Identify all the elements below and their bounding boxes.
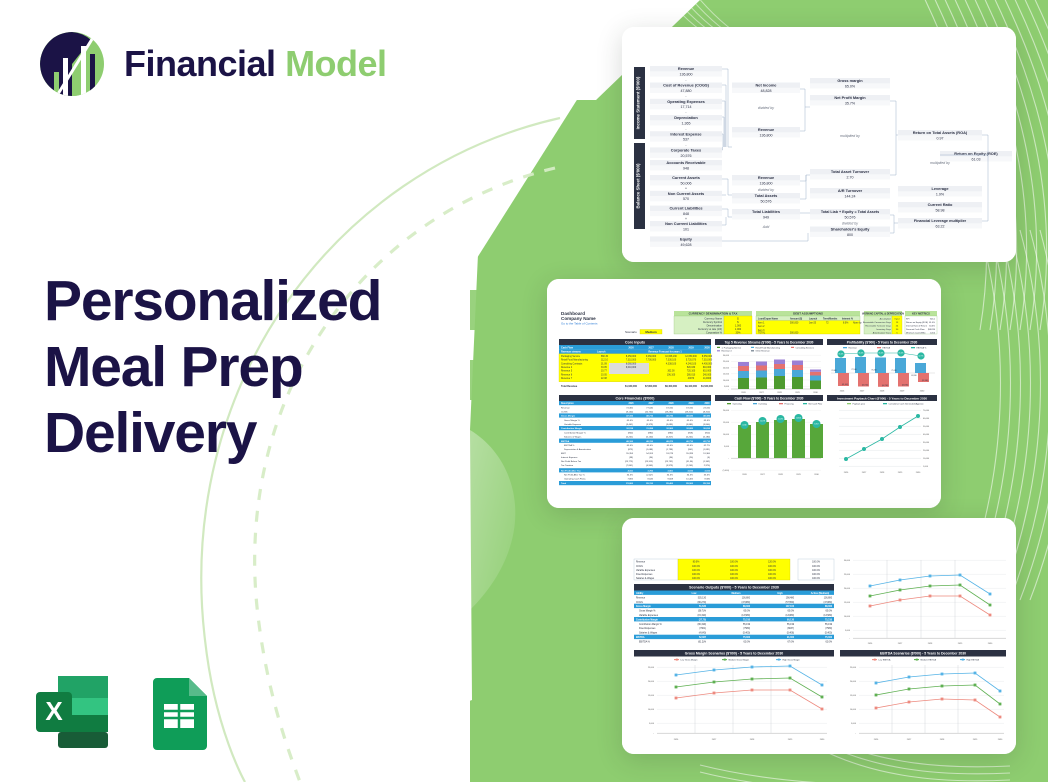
svg-text:55,199: 55,199	[787, 624, 795, 626]
svg-text:(31,36): (31,36)	[686, 461, 693, 463]
svg-text:30,810: 30,810	[703, 428, 710, 430]
svg-text:DEBT ASSUMPTIONS: DEBT ASSUMPTIONS	[793, 312, 823, 316]
svg-text:Operating Cash Flows: Operating Cash Flows	[564, 478, 587, 481]
svg-text:$1,520,000: $1,520,000	[701, 385, 714, 388]
svg-text:5,720,070: 5,720,070	[686, 360, 697, 362]
svg-text:Financing: Financing	[785, 404, 795, 406]
svg-text:10,000: 10,000	[844, 616, 851, 618]
svg-text:Low EBITDA: Low EBITDA	[879, 658, 892, 661]
svg-text:62.0%: 62.0%	[825, 642, 832, 644]
svg-text:Operating Expenses: Operating Expenses	[667, 99, 705, 104]
svg-text:75,310: 75,310	[743, 619, 751, 621]
svg-text:(918): (918)	[688, 432, 693, 434]
svg-text:136,800: 136,800	[824, 598, 833, 600]
svg-text:Jan-25: Jan-25	[809, 323, 817, 325]
svg-text:101: 101	[683, 227, 689, 231]
svg-text:62.7%: 62.7%	[704, 445, 710, 447]
svg-text:144.24: 144.24	[845, 194, 856, 198]
page-title-line-3: Delivery	[44, 400, 464, 466]
svg-text:54,203: 54,203	[646, 453, 653, 455]
svg-text:Cash Flow: Cash Flow	[561, 346, 573, 349]
svg-text:(1,205): (1,205)	[686, 465, 693, 467]
svg-text:Revenue: Revenue	[758, 175, 775, 180]
dashboard-screenshot[interactable]: Dashboard Company Name Go to the Table o…	[547, 279, 941, 508]
svg-text:3,060,000: 3,060,000	[646, 356, 657, 358]
svg-text:Balance Sheet ($'000): Balance Sheet ($'000)	[636, 163, 641, 209]
svg-text:High: High	[777, 592, 783, 595]
svg-text:High EBITDA: High EBITDA	[967, 658, 980, 661]
svg-text:Depreciation: Depreciation	[674, 115, 698, 120]
green-sliver-left-lower	[470, 360, 487, 400]
svg-text:COGS: COGS	[636, 566, 643, 568]
svg-text:0.97: 0.97	[937, 136, 944, 140]
svg-text:Net Profit Before Tax: Net Profit Before Tax	[561, 460, 582, 463]
svg-text:91,300: 91,300	[787, 637, 795, 639]
svg-text:3,910: 3,910	[705, 470, 711, 472]
svg-text:10,405: 10,405	[686, 479, 693, 481]
svg-text:Interest Expense: Interest Expense	[561, 456, 578, 459]
svg-text:(4,640): (4,640)	[699, 633, 707, 635]
svg-text:$7,800,000: $7,800,000	[645, 385, 658, 388]
slide-canvas: Financial Model Personalized Meal Prep D…	[0, 0, 1048, 782]
svg-text:75,310: 75,310	[891, 370, 896, 372]
svg-text:61.03: 61.03	[972, 157, 981, 161]
svg-text:Total Revenue: Total Revenue	[561, 385, 578, 388]
svg-text:32,820: 32,820	[686, 428, 693, 430]
svg-text:(5,180): (5,180)	[703, 436, 710, 438]
svg-text:Variable Expenses: Variable Expenses	[639, 614, 659, 617]
svg-text:Variable Expense: Variable Expense	[564, 423, 582, 426]
svg-text:Total Liab + Equity = Total As: Total Liab + Equity = Total Assets	[821, 210, 879, 214]
svg-text:10,608,190: 10,608,190	[665, 356, 677, 358]
svg-text:Net Profit Margin: Net Profit Margin	[834, 95, 866, 100]
svg-text:Value: Value	[930, 318, 936, 320]
svg-text:Net Profit After Tax: Net Profit After Tax	[561, 469, 581, 472]
svg-text:1.9%: 1.9%	[936, 192, 945, 196]
svg-text:8.0%: 8.0%	[843, 323, 848, 325]
svg-text:302.00: 302.00	[667, 371, 675, 373]
svg-text:(5,150): (5,150)	[646, 436, 653, 438]
svg-text:Medium EBITDA: Medium EBITDA	[921, 658, 937, 661]
svg-text:8,707: 8,707	[814, 424, 818, 426]
svg-text:(47,880): (47,880)	[823, 602, 832, 604]
svg-text:Corporate Taxes: Corporate Taxes	[671, 148, 701, 153]
svg-text:Net Cash Flow: Net Cash Flow	[809, 403, 823, 406]
svg-text:Item 1: Item 1	[758, 322, 765, 325]
svg-text:17,714: 17,714	[681, 105, 692, 109]
svg-text:47,100: 47,100	[626, 415, 633, 418]
svg-text:34.5%: 34.5%	[687, 475, 693, 477]
svg-text:30,000: 30,000	[923, 442, 930, 444]
svg-text:multiplied by: multiplied by	[930, 161, 950, 165]
svg-text:30,000: 30,000	[844, 560, 851, 562]
svg-text:Discount Cash Flow: Discount Cash Flow	[906, 328, 925, 331]
svg-text:10,000: 10,000	[850, 709, 857, 711]
svg-text:62.7%: 62.7%	[919, 356, 924, 358]
svg-text:136,800: 136,800	[760, 181, 773, 185]
svg-text:Interest Expense: Interest Expense	[670, 131, 702, 136]
svg-text:(13,580): (13,580)	[741, 615, 750, 617]
svg-text:TOTAL: TOTAL	[758, 332, 766, 335]
svg-text:(3,979): (3,979)	[666, 465, 673, 467]
svg-text:Amortisation Years: Amortisation Years	[873, 331, 892, 334]
svg-text:20,000: 20,000	[723, 410, 730, 412]
svg-text:Gross margin: Gross margin	[837, 78, 863, 83]
svg-text:divided by: divided by	[758, 188, 774, 192]
svg-text:(5,201): (5,201)	[686, 436, 693, 438]
svg-text:35.7%: 35.7%	[845, 101, 856, 105]
svg-text:Medium Gross Margin: Medium Gross Margin	[729, 658, 750, 661]
svg-text:Ability: Ability	[636, 592, 644, 595]
svg-text:15,000: 15,000	[723, 374, 730, 376]
svg-text:70,000: 70,000	[923, 410, 930, 412]
svg-text:80.0%: 80.0%	[693, 562, 700, 564]
svg-text:COGS: COGS	[561, 411, 568, 413]
svg-text:7,310,000: 7,310,000	[626, 360, 637, 362]
svg-text:860.30: 860.30	[601, 356, 609, 358]
svg-text:20,576: 20,576	[681, 154, 692, 158]
svg-text:100.0%: 100.0%	[730, 570, 738, 572]
svg-text:$8,190: $8,190	[703, 483, 710, 485]
svg-text:Accounts Receivable: Accounts Receivable	[666, 160, 706, 165]
svg-text:7,310,000: 7,310,000	[702, 360, 713, 362]
brand-name-part1: Financial	[124, 43, 276, 84]
svg-text:Gross Margin: Gross Margin	[561, 416, 576, 418]
svg-text:40,000: 40,000	[923, 434, 930, 436]
svg-text:65.0%: 65.0%	[687, 445, 693, 447]
svg-text:2027: 2027	[648, 346, 654, 349]
svg-text:1. Packaging Service: 1. Packaging Service	[722, 346, 742, 349]
svg-text:55,199: 55,199	[743, 624, 751, 626]
svg-text:20,000: 20,000	[923, 450, 930, 452]
svg-text:(20): (20)	[689, 457, 693, 459]
svg-text:(1,302): (1,302)	[703, 461, 710, 463]
svg-text:12,650,000: 12,650,000	[685, 356, 697, 358]
svg-text:(15,190): (15,190)	[697, 615, 706, 617]
svg-text:Input: Input	[895, 317, 900, 320]
svg-text:10,000: 10,000	[723, 434, 730, 436]
svg-text:Revenue: Revenue	[678, 66, 695, 71]
svg-text:Operating: Operating	[733, 403, 743, 406]
svg-text:(43,710): (43,710)	[862, 385, 869, 387]
svg-text:(23,313): (23,313)	[645, 461, 653, 463]
dashboard-subtitle: Company Name	[561, 316, 596, 321]
svg-text:30%: 30%	[735, 331, 741, 334]
brand-name-part2: Model	[285, 43, 387, 84]
svg-text:Revenue 4: Revenue 4	[722, 351, 733, 353]
svg-text:Current Assets: Current Assets	[672, 175, 700, 180]
svg-text:Retail Food Manufacturing: Retail Food Manufacturing	[561, 359, 589, 362]
svg-text:65.0%: 65.0%	[704, 420, 710, 422]
svg-text:948: 948	[683, 166, 689, 170]
svg-text:Item 2: Item 2	[758, 325, 765, 328]
svg-text:100.0%: 100.0%	[768, 578, 776, 580]
green-sliver-left-upper	[470, 290, 490, 330]
svg-text:Revenue: Revenue	[561, 407, 571, 409]
svg-text:Consulting Contracts: Consulting Contracts	[561, 362, 583, 365]
svg-text:100.0%: 100.0%	[692, 574, 700, 576]
svg-text:20,000: 20,000	[850, 681, 857, 683]
svg-text:Other Revenue: Other Revenue	[756, 350, 771, 353]
svg-text:20,000: 20,000	[723, 367, 730, 369]
svg-text:15,000: 15,000	[723, 422, 730, 424]
svg-text:Total: Total	[561, 482, 566, 485]
svg-text:A/R Turnover: A/R Turnover	[838, 188, 863, 193]
svg-text:88,300: 88,300	[743, 606, 751, 608]
svg-text:(8,310): (8,310)	[703, 411, 710, 413]
svg-text:Variable Expenses: Variable Expenses	[636, 569, 656, 572]
svg-text:Equity: Equity	[680, 237, 693, 242]
svg-text:1,000: 1,000	[923, 466, 929, 468]
svg-text:(6): (6)	[707, 457, 710, 459]
svg-text:2.70: 2.70	[847, 175, 854, 179]
svg-text:Leverage: Leverage	[931, 186, 949, 191]
svg-text:65.0%: 65.0%	[787, 611, 794, 613]
svg-text:Corporation %: Corporation %	[706, 331, 723, 334]
svg-text:Medium: Medium	[645, 330, 657, 334]
svg-text:2030: 2030	[704, 346, 710, 349]
svg-text:5,000: 5,000	[724, 446, 730, 448]
svg-text:-: -	[685, 78, 686, 82]
svg-text:Salaries & Wages: Salaries & Wages	[636, 577, 655, 580]
svg-text:multiplied by: multiplied by	[840, 134, 860, 138]
svg-text:48,310: 48,310	[646, 440, 653, 443]
svg-text:COGS: COGS	[636, 602, 643, 604]
svg-text:Tax Taxation: Tax Taxation	[561, 464, 574, 467]
svg-text:10,198: 10,198	[760, 421, 765, 423]
svg-text:$9,100,000: $9,100,000	[685, 385, 698, 388]
svg-text:5,000: 5,000	[649, 723, 655, 725]
svg-text:33.5%: 33.5%	[704, 475, 710, 477]
svg-text:120.0%: 120.0%	[768, 562, 776, 564]
svg-text:33.05: 33.05	[601, 374, 607, 376]
svg-text:610,000: 610,000	[703, 367, 712, 369]
svg-text:136,800: 136,800	[680, 73, 693, 77]
svg-text:25,000: 25,000	[850, 667, 857, 669]
svg-text:3,901: 3,901	[668, 470, 674, 472]
svg-text:2,970): 2,970)	[704, 465, 710, 467]
svg-text:Revenue: Revenue	[636, 598, 646, 600]
svg-text:76,310: 76,310	[871, 370, 876, 372]
svg-text:Contribution Margin %: Contribution Margin %	[639, 623, 662, 626]
svg-text:Description: Description	[561, 402, 574, 405]
svg-text:48,180: 48,180	[703, 415, 710, 418]
svg-text:Revenue 7: Revenue 7	[561, 378, 573, 380]
svg-text:Low Gross Margin: Low Gross Margin	[681, 658, 699, 661]
svg-text:$8,310: $8,310	[646, 483, 653, 485]
svg-text:Salaries & Wages: Salaries & Wages	[564, 435, 582, 438]
svg-text:Retail Food Manufacturing: Retail Food Manufacturing	[756, 346, 781, 349]
svg-text:198,480: 198,480	[786, 598, 795, 600]
svg-text:(80,270): (80,270)	[697, 602, 706, 604]
svg-text:53,278: 53,278	[666, 453, 673, 455]
svg-text:Scenario Outputs ($'000) - 5 Y: Scenario Outputs ($'000) - 5 Years to De…	[689, 586, 779, 590]
svg-text:$8,400,000: $8,400,000	[665, 385, 678, 388]
svg-text:Denomination: Denomination	[707, 325, 723, 328]
svg-text:74,300: 74,300	[626, 407, 633, 409]
svg-text:4,400,000: 4,400,000	[702, 363, 713, 365]
svg-text:(41,100): (41,100)	[842, 384, 849, 386]
svg-text:50,006: 50,006	[681, 181, 692, 185]
svg-text:61.0%: 61.0%	[929, 322, 935, 324]
svg-text:Gross Margin %: Gross Margin %	[564, 419, 580, 422]
svg-text:Total Liabilities: Total Liabilities	[752, 209, 780, 214]
page-title-line-2: Meal Prep	[44, 334, 464, 400]
svg-text:63.22: 63.22	[936, 224, 945, 228]
svg-text:(61.2)%: (61.2)%	[698, 642, 706, 644]
svg-text:(44,730): (44,730)	[882, 385, 889, 387]
svg-text:100.0%: 100.0%	[692, 578, 700, 580]
top-panel-debt: DEBT ASSUMPTIONS Loan/Expan NameAmount (…	[756, 311, 862, 335]
svg-text:50,000: 50,000	[923, 426, 930, 428]
svg-text:Income Statement ($'000): Income Statement ($'000)	[636, 76, 641, 129]
svg-text:(27,70): (27,70)	[699, 619, 707, 621]
svg-text:(900): (900)	[628, 432, 633, 434]
svg-text:$8,900: $8,900	[686, 483, 693, 485]
svg-text:20,000: 20,000	[844, 588, 851, 590]
svg-text:Revenue: Revenue	[849, 348, 858, 350]
svg-text:Revenue 6: Revenue 6	[561, 374, 573, 376]
svg-text:535,130: 535,130	[698, 598, 707, 600]
svg-text:(58.7)%: (58.7)%	[698, 611, 706, 613]
svg-text:(3,885): (3,885)	[686, 424, 693, 426]
svg-text:$3,800: $3,800	[626, 483, 633, 485]
svg-text:949: 949	[763, 215, 769, 219]
svg-text:62.0%: 62.0%	[743, 642, 750, 644]
svg-text:(47,880): (47,880)	[741, 602, 750, 604]
svg-text:Profitability ($'000) - 5 Year: Profitability ($'000) - 5 Years to Decem…	[847, 340, 918, 344]
svg-text:100.0%: 100.0%	[768, 574, 776, 576]
svg-text:Packaging Service: Packaging Service	[561, 355, 581, 358]
svg-text:100.0%: 100.0%	[692, 570, 700, 572]
dashboard-toc-link: Go to the Table of Contents	[561, 322, 598, 326]
svg-text:1,050: 1,050	[930, 332, 936, 334]
svg-text:6,010,000: 6,010,000	[626, 367, 637, 369]
top-panel-working-capital: WORKING CAPITAL & DEPRECIATION Assumptio…	[862, 311, 904, 334]
svg-text:Revenue streams: Revenue streams	[561, 351, 581, 354]
svg-text:Return on Equity (ROE): Return on Equity (ROE)	[906, 321, 928, 324]
svg-text:Consulting Services: Consulting Services	[796, 346, 814, 349]
svg-text:65.0%: 65.0%	[627, 445, 633, 447]
svg-text:42,710: 42,710	[703, 440, 710, 443]
svg-text:520,030: 520,030	[687, 367, 696, 369]
svg-text:Medium: Medium	[731, 592, 740, 595]
svg-text:Shareholder's Equity: Shareholder's Equity	[831, 227, 871, 232]
svg-text:500,000: 500,000	[790, 333, 799, 335]
svg-text:1,000: 1,000	[735, 325, 742, 328]
svg-text:8,645: 8,645	[648, 479, 654, 481]
svg-text:Investment Payback Chart ($'00: Investment Payback Chart ($'000) - 5 Yea…	[837, 396, 927, 400]
svg-text:X: X	[45, 696, 63, 726]
svg-text:(5,400): (5,400)	[825, 633, 833, 635]
svg-text:(980): (980)	[648, 432, 653, 434]
svg-text:EBITDA %: EBITDA %	[639, 641, 650, 644]
svg-text:30,000: 30,000	[723, 355, 730, 357]
svg-text:48,930: 48,930	[686, 415, 693, 418]
svg-text:(910): (910)	[705, 432, 710, 434]
svg-text:100.0%: 100.0%	[768, 566, 776, 568]
svg-text:58.98: 58.98	[936, 208, 945, 212]
svg-text:Revenue 4: Revenue 4	[561, 367, 573, 369]
svg-text:(80,199): (80,199)	[697, 624, 706, 626]
dupont-analysis-screenshot[interactable]: Income Statement ($'000) Balance Sheet (…	[622, 27, 1016, 262]
svg-text:77,040: 77,040	[646, 407, 653, 409]
svg-text:(1,891): (1,891)	[703, 449, 710, 451]
svg-text:(34): (34)	[649, 457, 653, 459]
svg-text:(5,400): (5,400)	[743, 633, 751, 635]
microsoft-excel-icon[interactable]: X	[32, 672, 112, 752]
svg-text:(5,000): (5,000)	[723, 470, 730, 472]
svg-text:$48.1M: $48.1M	[928, 329, 935, 331]
svg-text:107,100: 107,100	[786, 606, 795, 608]
svg-text:High Gross Margin: High Gross Margin	[783, 658, 801, 661]
svg-text:(3,401): (3,401)	[626, 424, 633, 426]
svg-text:WORKING CAPITAL & DEPRECIATION: WORKING CAPITAL & DEPRECIATION	[862, 313, 904, 316]
svg-text:100.0%: 100.0%	[730, 578, 738, 580]
svg-text:10,800: 10,800	[796, 418, 801, 420]
svg-text:65.0%: 65.0%	[743, 611, 750, 613]
svg-text:(13,580): (13,580)	[823, 615, 832, 617]
svg-text:55,353: 55,353	[626, 453, 633, 455]
svg-text:Currency Name: Currency Name	[704, 317, 722, 320]
svg-text:4,240,100: 4,240,100	[686, 363, 697, 365]
scenario-assumption-table: RevenueCOGS Variable ExpensesFixed Expen…	[634, 559, 834, 580]
svg-text:(1,798): (1,798)	[666, 449, 673, 451]
svg-text:15,000: 15,000	[850, 695, 857, 697]
google-sheets-icon[interactable]	[139, 672, 219, 752]
svg-text:Payback year: Payback year	[853, 403, 866, 406]
svg-text:3,760: 3,760	[648, 470, 654, 472]
svg-text:610,000: 610,000	[703, 371, 712, 373]
svg-text:2026: 2026	[628, 403, 634, 405]
page-title: Personalized Meal Prep Delivery	[44, 268, 464, 466]
svg-text:(3,800): (3,800)	[703, 424, 710, 426]
scenario-analysis-screenshot[interactable]: RevenueCOGS Variable ExpensesFixed Expen…	[622, 518, 1016, 754]
svg-text:Receivable Turnover Days: Receivable Turnover Days	[865, 325, 892, 328]
svg-text:KPI: KPI	[906, 318, 910, 320]
brand-logo[interactable]: Financial Model	[36, 28, 387, 100]
svg-text:2027: 2027	[648, 403, 654, 405]
top-panel-currency: CURRENCY DENOMINATION & TAX Currency Nam…	[674, 311, 752, 334]
svg-text:50,576: 50,576	[845, 215, 856, 219]
svg-text:Net Income: Net Income	[756, 83, 778, 88]
svg-text:19,310: 19,310	[666, 407, 673, 409]
svg-text:(38): (38)	[629, 457, 633, 459]
svg-text:51,630: 51,630	[699, 606, 707, 608]
svg-text:(7901): (7901)	[699, 628, 706, 630]
svg-text:Minimum Cash (Mth): Minimum Cash (Mth)	[906, 331, 926, 334]
svg-text:-: -	[685, 143, 686, 147]
svg-text:19,310: 19,310	[686, 407, 693, 409]
svg-text:Item 3: Item 3	[758, 329, 765, 332]
svg-text:15,000: 15,000	[844, 602, 851, 604]
svg-text:720,100: 720,100	[687, 371, 696, 373]
svg-text:22.08: 22.08	[601, 378, 607, 380]
svg-text:5,000: 5,000	[845, 630, 851, 632]
svg-text:5,000: 5,000	[851, 723, 857, 725]
svg-text:2028: 2028	[668, 346, 674, 349]
scenario-sheet: RevenueCOGS Variable ExpensesFixed Expen…	[622, 518, 1016, 754]
svg-text:9,608: 9,608	[668, 479, 674, 481]
svg-text:$8,400: $8,400	[666, 482, 673, 485]
svg-text:EBITDA %: EBITDA %	[564, 444, 574, 447]
svg-text:EBITDA: EBITDA	[636, 636, 645, 639]
svg-text:65.0%: 65.0%	[825, 611, 832, 613]
svg-text:100.0%: 100.0%	[812, 562, 820, 564]
svg-text:2030: 2030	[704, 403, 710, 405]
svg-text:54.6%: 54.6%	[929, 326, 935, 328]
svg-text:Cumulative Cash Generated (App: Cumulative Cash Generated (Approx)	[889, 403, 924, 406]
